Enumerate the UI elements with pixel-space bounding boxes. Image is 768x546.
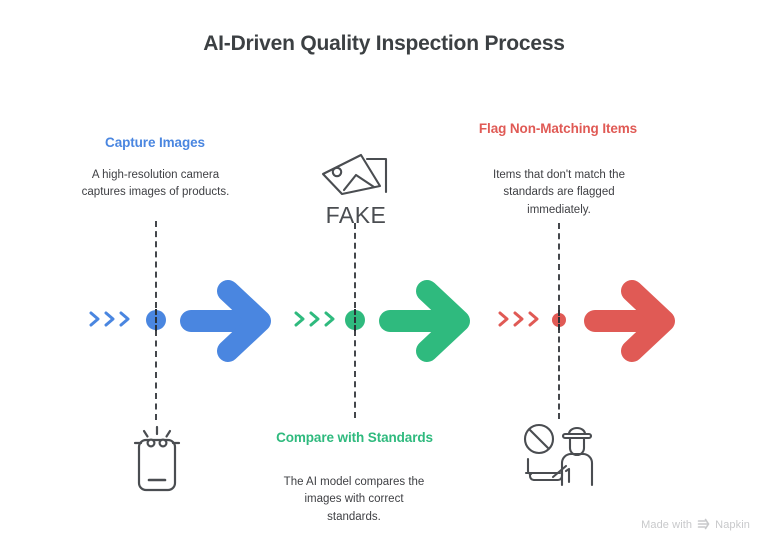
timeline-node-compare-with-standards (345, 310, 365, 330)
inspector-prohibited-icon (520, 423, 598, 491)
step-heading-compare-with-standards: Compare with Standards (272, 428, 437, 447)
timeline-dash-flag-upper (558, 223, 560, 311)
timeline-dash-through-node-flag (558, 310, 560, 330)
timeline-dash-compare-lower (354, 330, 356, 418)
step-heading-capture-images: Capture Images (70, 133, 240, 152)
watermark: Made with Napkin (641, 518, 750, 532)
timeline-dash-through-node-capture (155, 309, 157, 331)
napkin-leaf-icon (697, 518, 710, 530)
chevron-right-icon (527, 308, 541, 330)
timeline-dash-compare-upper (354, 223, 356, 308)
right-arrow-blue-icon (178, 275, 278, 367)
timeline-dash-capture-upper (155, 221, 157, 308)
camera-phone-flash-icon (126, 424, 188, 494)
step-heading-flag-non-matching-items: Flag Non-Matching Items (473, 119, 643, 138)
fake-photo-label: FAKE (318, 202, 394, 229)
chevrons-capture-images (88, 308, 132, 330)
chevron-right-icon (88, 308, 102, 330)
page-title: AI-Driven Quality Inspection Process (0, 32, 768, 56)
fake-photo-icon: FAKE (318, 150, 394, 220)
chevrons-flag-non-matching-items (497, 308, 541, 330)
timeline-node-capture-images (146, 310, 166, 330)
diagram-canvas: AI-Driven Quality Inspection Process Cap… (0, 0, 768, 546)
right-arrow-red-icon (582, 275, 682, 367)
chevron-right-icon (118, 308, 132, 330)
step-body-compare-with-standards: The AI model compares the images with co… (278, 474, 430, 526)
timeline-dash-through-node-compare (354, 309, 356, 331)
timeline-node-flag-non-matching-items (552, 313, 566, 327)
watermark-prefix: Made with (641, 519, 692, 531)
chevrons-compare-with-standards (293, 308, 337, 330)
chevron-right-icon (308, 308, 322, 330)
watermark-brand: Napkin (715, 519, 750, 531)
step-body-flag-non-matching-items: Items that don't match the standards are… (480, 167, 638, 219)
step-body-capture-images: A high-resolution camera captures images… (78, 167, 233, 202)
timeline-dash-capture-lower (155, 330, 157, 420)
chevron-right-icon (497, 308, 511, 330)
tilted-photo-frames-icon (318, 150, 394, 198)
timeline-dash-flag-lower (558, 327, 560, 419)
chevron-right-icon (323, 308, 337, 330)
chevron-right-icon (293, 308, 307, 330)
chevron-right-icon (512, 308, 526, 330)
napkin-logo-icon (697, 518, 710, 532)
right-arrow-green-icon (377, 275, 477, 367)
chevron-right-icon (103, 308, 117, 330)
